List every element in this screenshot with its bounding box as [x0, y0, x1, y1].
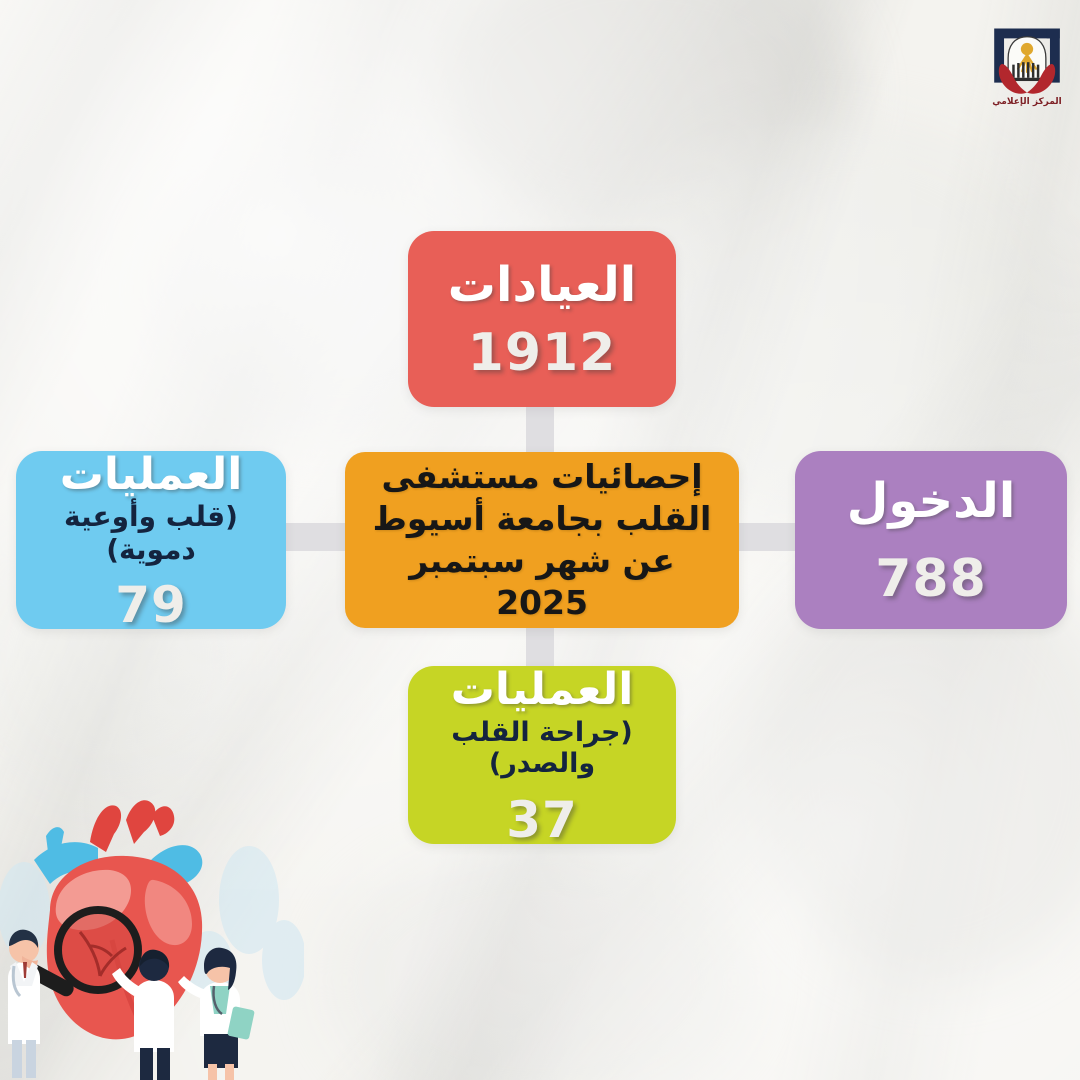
headline-line-2: القلب بجامعة أسيوط: [363, 498, 721, 540]
stat-card-clinics: العيادات 1912: [408, 231, 676, 407]
stat-card-operations-cardiothoracic-value: 37: [506, 795, 578, 845]
stat-card-operations-cardiovascular-value: 79: [115, 580, 187, 630]
stat-card-operations-cardiothoracic: العمليات (جراحة القلب والصدر) 37: [408, 666, 676, 844]
headline-line-3: عن شهر سبتمبر 2025: [363, 540, 721, 624]
media-center-logo-icon: [986, 22, 1068, 104]
media-center-logo-caption: المركز الإعلامي: [986, 97, 1068, 107]
stat-card-operations-cardiothoracic-title: العمليات: [451, 665, 634, 714]
media-center-logo: المركز الإعلامي: [986, 22, 1068, 104]
stat-card-admissions-value: 788: [875, 553, 987, 605]
headline-card: إحصائيات مستشفى القلب بجامعة أسيوط عن شه…: [345, 452, 739, 628]
stat-card-clinics-value: 1912: [468, 327, 617, 379]
heart-illustration-icon: [0, 790, 304, 1080]
stat-card-operations-cardiovascular-subtitle: (قلب وأوعية دموية): [30, 501, 272, 565]
doctor-left: [8, 930, 40, 1078]
stat-card-operations-cardiovascular-title: العمليات: [60, 450, 243, 499]
infographic-poster: العيادات 1912 العمليات (قلب وأوعية دموية…: [0, 0, 1080, 1080]
headline-text: إحصائيات مستشفى القلب بجامعة أسيوط عن شه…: [363, 456, 721, 625]
stat-card-admissions: الدخول 788: [795, 451, 1067, 629]
stat-card-operations-cardiovascular: العمليات (قلب وأوعية دموية) 79: [16, 451, 286, 629]
stat-card-admissions-title: الدخول: [847, 475, 1016, 529]
doctors-examining-heart-illustration: [0, 790, 304, 1080]
stat-card-clinics-title: العيادات: [448, 259, 637, 313]
stat-card-operations-cardiothoracic-subtitle: (جراحة القلب والصدر): [422, 717, 662, 779]
headline-line-1: إحصائيات مستشفى: [363, 456, 721, 498]
